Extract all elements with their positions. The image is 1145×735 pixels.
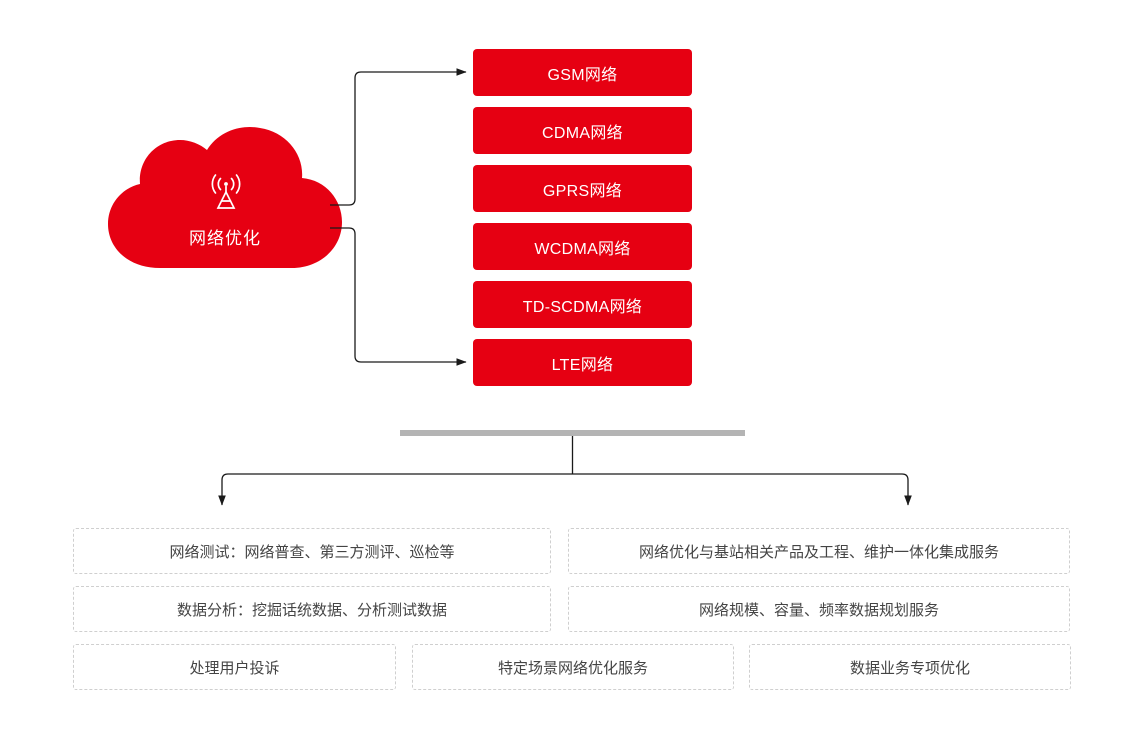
service-box-data-service-optimization[interactable]: 数据业务专项优化 [749, 644, 1071, 690]
network-box-cdma[interactable]: CDMA网络 [473, 107, 692, 154]
divider-bar [400, 430, 745, 436]
service-box-data-analysis[interactable]: 数据分析：挖掘话统数据、分析测试数据 [73, 586, 551, 632]
service-box-network-testing[interactable]: 网络测试：网络普查、第三方测评、巡检等 [73, 528, 551, 574]
cloud-node-label: 网络优化 [104, 224, 346, 249]
diagram-canvas: 网络优化 GSM网络 CDMA网络 GPRS网络 WCDMA网络 TD-SCDM… [0, 0, 1145, 735]
broadcast-tower-icon [202, 170, 250, 218]
network-box-td-scdma[interactable]: TD-SCDMA网络 [473, 281, 692, 328]
connector-branch-right [573, 474, 909, 505]
network-box-gsm[interactable]: GSM网络 [473, 49, 692, 96]
connector-branch-left [222, 474, 573, 505]
service-box-network-planning[interactable]: 网络规模、容量、频率数据规划服务 [568, 586, 1070, 632]
network-box-wcdma[interactable]: WCDMA网络 [473, 223, 692, 270]
connector-cloud-to-lte [330, 228, 466, 362]
service-box-user-complaints[interactable]: 处理用户投诉 [73, 644, 396, 690]
network-box-lte[interactable]: LTE网络 [473, 339, 692, 386]
service-box-basestation-integration[interactable]: 网络优化与基站相关产品及工程、维护一体化集成服务 [568, 528, 1070, 574]
network-box-gprs[interactable]: GPRS网络 [473, 165, 692, 212]
service-box-scenario-optimization[interactable]: 特定场景网络优化服务 [412, 644, 734, 690]
cloud-node[interactable]: 网络优化 [104, 124, 346, 272]
connector-cloud-to-gsm [330, 72, 466, 205]
